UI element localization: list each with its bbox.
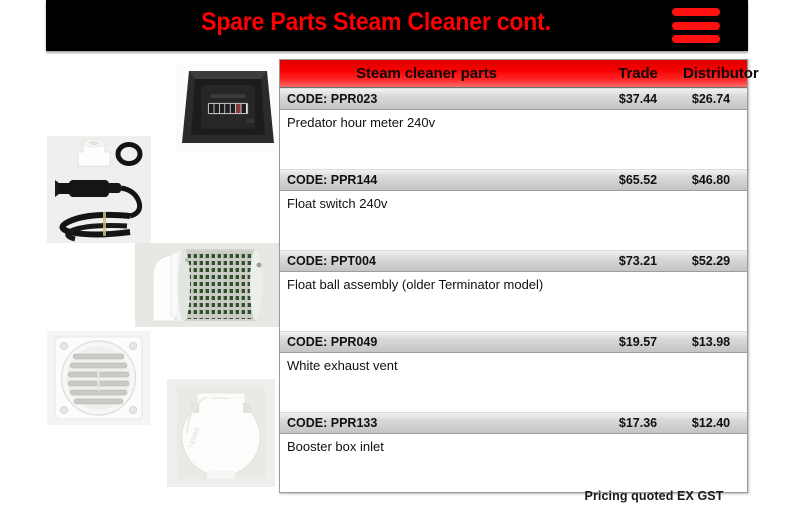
parts-table: Steam cleaner parts Trade Distributor CO…	[279, 59, 748, 493]
table-row: CODE: PPR133 $17.36 $12.40	[280, 412, 747, 434]
float-switch-photo	[47, 136, 151, 243]
table-row: Booster box inlet	[280, 434, 747, 492]
part-description: Predator hour meter 240v	[280, 110, 747, 169]
distributor-price: $12.40	[675, 412, 747, 434]
table-row: Predator hour meter 240v	[280, 110, 747, 169]
part-description: Float ball assembly (older Terminator mo…	[280, 272, 747, 331]
exhaust-vent-photo	[47, 331, 150, 425]
table-row: CODE: PPR144 $65.52 $46.80	[280, 169, 747, 191]
column-header-parts: Steam cleaner parts	[280, 60, 601, 88]
part-description: Float switch 240v	[280, 191, 747, 250]
table-header-row: Steam cleaner parts Trade Distributor	[280, 60, 747, 88]
float-ball-photo	[135, 243, 279, 327]
column-header-distributor: Distributor	[675, 60, 747, 88]
hamburger-menu-icon[interactable]	[672, 8, 720, 43]
table-row: CODE: PPT004 $73.21 $52.29	[280, 250, 747, 272]
booster-box-photo: TERMI	[167, 379, 275, 487]
distributor-price: $13.98	[675, 331, 747, 353]
distributor-price: $52.29	[675, 250, 747, 272]
hamburger-bar-1	[672, 8, 720, 16]
part-code: CODE: PPR023	[280, 88, 601, 110]
part-code: CODE: PPR144	[280, 169, 601, 191]
trade-price: $65.52	[601, 169, 675, 191]
part-description: White exhaust vent	[280, 353, 747, 412]
trade-price: $73.21	[601, 250, 675, 272]
table-row: CODE: PPR049 $19.57 $13.98	[280, 331, 747, 353]
distributor-price: $46.80	[675, 169, 747, 191]
part-description: Booster box inlet	[280, 434, 747, 492]
trade-price: $19.57	[601, 331, 675, 353]
trade-price: $37.44	[601, 88, 675, 110]
column-header-trade: Trade	[601, 60, 675, 88]
distributor-price: $26.74	[675, 88, 747, 110]
table-row: CODE: PPR023 $37.44 $26.74	[280, 88, 747, 110]
trade-price: $17.36	[601, 412, 675, 434]
table-row: Float ball assembly (older Terminator mo…	[280, 272, 747, 331]
table-row: Float switch 240v	[280, 191, 747, 250]
hamburger-bar-2	[672, 22, 720, 30]
part-code: CODE: PPT004	[280, 250, 601, 272]
page-title: Spare Parts Steam Cleaner cont.	[72, 8, 679, 37]
table-row: White exhaust vent	[280, 353, 747, 412]
part-code: CODE: PPR133	[280, 412, 601, 434]
hamburger-bar-3	[672, 35, 720, 43]
pricing-note: Pricing quoted EX GST	[560, 489, 748, 503]
header-bar: Spare Parts Steam Cleaner cont.	[46, 0, 748, 51]
hour-meter-photo	[175, 63, 278, 153]
part-code: CODE: PPR049	[280, 331, 601, 353]
